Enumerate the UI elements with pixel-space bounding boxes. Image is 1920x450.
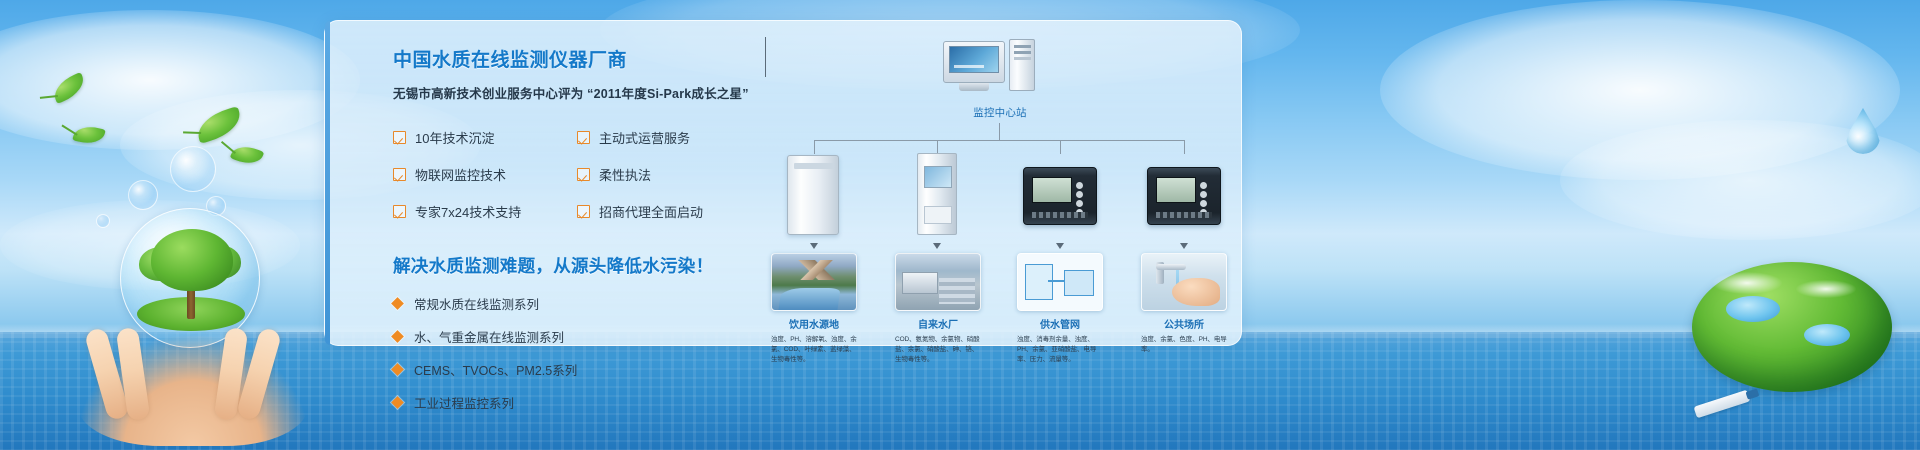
checkbox-checked-icon (577, 205, 590, 218)
connector-line (999, 123, 1000, 141)
feature-item: 专家7x24技术支持 (393, 202, 571, 221)
feature-label: 招商代理全面启动 (599, 202, 703, 221)
station-cabinet (917, 153, 957, 235)
scenario-parameters: 浊度、PH、溶解氧、浊度、余氯、COD、叶绿素、蓝绿藻、生物毒性等。 (771, 335, 857, 365)
product-line-label: 常规水质在线监测系列 (414, 294, 539, 313)
product-line-list: 常规水质在线监测系列 水、气重金属在线监测系列 CEMS、TVOCs、PM2.5… (393, 294, 753, 412)
feature-checklist: 10年技术沉淀 主动式运营服务 物联网监控技术 柔性执法 专家7x24技术支持 (393, 128, 753, 221)
hands-holding-tree-illustration (78, 196, 308, 446)
connector-line (814, 140, 815, 154)
pc-tower (1009, 39, 1035, 91)
cloud-decoration (0, 10, 360, 150)
device-cabinet-station (895, 153, 981, 239)
arrow-down-icon (810, 243, 818, 249)
checkbox-checked-icon (577, 131, 590, 144)
scenario-photo (895, 253, 981, 311)
water-globe (120, 208, 260, 348)
connector-line (765, 57, 766, 67)
text-column: 中国水质在线监测仪器厂商 无锡市高新技术创业服务中心评为 “2011年度Si-P… (393, 45, 753, 412)
panel-controller (1023, 167, 1097, 225)
lake (1804, 324, 1850, 346)
bubble-decoration (170, 146, 216, 192)
scenario-caption: 供水管网 (1017, 316, 1103, 331)
page-title: 中国水质在线监测仪器厂商 (393, 45, 753, 72)
device-cabinet-analyzer (771, 153, 857, 239)
arrow-down-icon (1056, 243, 1064, 249)
cloud-decoration (1712, 272, 1782, 294)
keypad (1195, 180, 1213, 214)
scenario-caption: 公共场所 (1141, 316, 1227, 331)
water-quality-banner: 中国水质在线监测仪器厂商 无锡市高新技术创业服务中心评为 “2011年度Si-P… (0, 0, 1920, 450)
feature-label: 10年技术沉淀 (415, 128, 494, 147)
scenario-caption: 自来水厂 (895, 316, 981, 331)
feature-label: 专家7x24技术支持 (415, 202, 521, 221)
connector-line (765, 67, 766, 77)
leaf-icon (193, 106, 244, 144)
terminal-strip (1156, 212, 1212, 218)
feature-item: 10年技术沉淀 (393, 128, 571, 147)
lake (1726, 296, 1780, 322)
pipe-line (1048, 280, 1076, 282)
checkbox-checked-icon (577, 168, 590, 181)
keypad (1071, 180, 1089, 214)
scenario-drinking-water-source[interactable]: 饮用水源地 浊度、PH、溶解氧、浊度、余氯、COD、叶绿素、蓝绿藻、生物毒性等。 (771, 253, 857, 311)
monitor-screen (949, 46, 999, 73)
product-line-label: 工业过程监控系列 (414, 393, 514, 412)
scenario-public-facility[interactable]: 公共场所 浊度、余氯、色度、PH、电导率。 (1141, 253, 1227, 311)
system-topology-diagram: 监控中心站 (765, 37, 1225, 337)
feature-item: 物联网监控技术 (393, 165, 571, 184)
list-item[interactable]: CEMS、TVOCs、PM2.5系列 (393, 360, 753, 379)
panel-controller (1147, 167, 1221, 225)
scenario-parameters: COD、氨氮物、余氯物、硝酸盐、余氯、硝酸盐、砷、铬、生物毒性等。 (895, 335, 981, 365)
tagline: 解决水质监测难题，从源头降低水污染！ (393, 253, 753, 278)
earth-ball (1692, 262, 1892, 392)
green-earth-illustration (1692, 244, 1892, 394)
leaf-icon (72, 123, 105, 148)
scenario-water-supply-network[interactable]: 供水管网 浊度、消毒剂余量、浊度、PH、余氯、亚硝酸盐、电导率、压力、流量等。 (1017, 253, 1103, 311)
hand (1172, 278, 1220, 306)
feature-item: 柔性执法 (577, 165, 753, 184)
device-panel-controller-2 (1141, 153, 1227, 239)
monitoring-center-label: 监控中心站 (915, 105, 1085, 120)
feature-item: 主动式运营服务 (577, 128, 753, 147)
diamond-bullet-icon (391, 330, 404, 343)
scenario-photo (771, 253, 857, 311)
device-panel-controller-1 (1017, 153, 1103, 239)
connector-line (937, 140, 938, 154)
monitor (943, 41, 1005, 83)
connector-line (1184, 140, 1185, 154)
scenario-photo (1017, 253, 1103, 311)
connector-line (765, 47, 766, 57)
arrow-down-icon (1180, 243, 1188, 249)
cabinet-base-panel (924, 206, 952, 224)
checkbox-checked-icon (393, 168, 406, 181)
monitoring-center-computer-icon (943, 39, 1053, 97)
lcd-display (1032, 177, 1072, 203)
list-item[interactable]: 工业过程监控系列 (393, 393, 753, 412)
terminal-strip (1032, 212, 1088, 218)
connector-line (814, 140, 1184, 141)
feature-label: 主动式运营服务 (599, 128, 690, 147)
scenario-parameters: 浊度、消毒剂余量、浊度、PH、余氯、亚硝酸盐、电导率、压力、流量等。 (1017, 335, 1103, 365)
leaf-icon (230, 141, 265, 169)
product-line-label: 水、气重金属在线监测系列 (414, 327, 564, 346)
water-droplet-icon (1846, 108, 1880, 154)
arrow-down-icon (933, 243, 941, 249)
scenario-parameters: 浊度、余氯、色度、PH、电导率。 (1141, 335, 1227, 355)
leaf-icon (49, 72, 88, 104)
content-panel: 中国水质在线监测仪器厂商 无锡市高新技术创业服务中心评为 “2011年度Si-P… (324, 20, 1242, 346)
product-line-label: CEMS、TVOCs、PM2.5系列 (414, 360, 577, 379)
feature-item: 招商代理全面启动 (577, 202, 753, 221)
diamond-bullet-icon (391, 363, 404, 376)
connector-line (1060, 140, 1061, 154)
feature-label: 物联网监控技术 (415, 165, 506, 184)
cloud-decoration (1796, 280, 1856, 298)
scenario-water-plant[interactable]: 自来水厂 COD、氨氮物、余氯物、硝酸盐、余氯、硝酸盐、砷、铬、生物毒性等。 (895, 253, 981, 311)
scenario-photo (1141, 253, 1227, 311)
connector-line (765, 37, 766, 47)
checkbox-checked-icon (393, 205, 406, 218)
monitor-stand (959, 83, 989, 91)
checkbox-checked-icon (393, 131, 406, 144)
tree-crown (151, 229, 233, 291)
scenario-caption: 饮用水源地 (771, 316, 857, 331)
diamond-bullet-icon (391, 396, 404, 409)
analyzer-cabinet (787, 155, 839, 235)
lcd-display (1156, 177, 1196, 203)
list-item[interactable]: 水、气重金属在线监测系列 (393, 327, 753, 346)
feature-label: 柔性执法 (599, 165, 651, 184)
cloud-decoration (1380, 0, 1900, 180)
award-subtitle: 无锡市高新技术创业服务中心评为 “2011年度Si-Park成长之星” (393, 83, 753, 102)
list-item[interactable]: 常规水质在线监测系列 (393, 294, 753, 313)
cabinet-window (924, 166, 952, 188)
diamond-bullet-icon (391, 297, 404, 310)
